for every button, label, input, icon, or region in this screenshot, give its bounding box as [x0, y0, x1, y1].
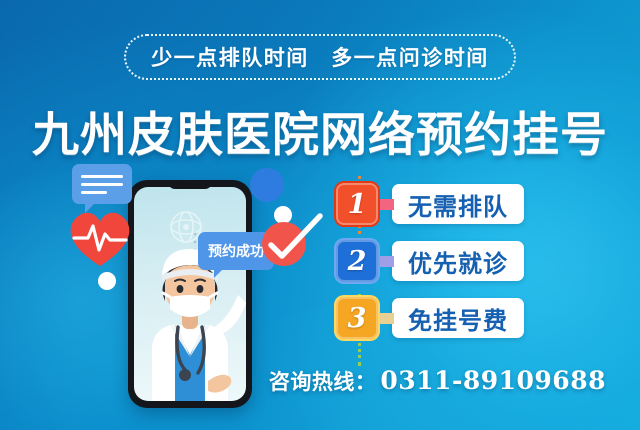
chat-line — [81, 183, 123, 186]
tagline-pill: 少一点排队时间 多一点问诊时间 — [124, 34, 516, 80]
benefit-number: 2 — [348, 248, 367, 275]
benefit-connector — [376, 256, 394, 267]
benefit-badge-3: 3 — [336, 297, 378, 339]
benefit-row-1: 1 无需排队 — [336, 182, 524, 226]
benefit-badge-2: 2 — [336, 240, 378, 282]
decorative-circle — [98, 272, 116, 290]
phone-screen — [134, 187, 246, 401]
benefit-connector — [376, 313, 394, 324]
benefit-connector — [376, 199, 394, 210]
benefit-row-3: 3 免挂号费 — [336, 296, 524, 340]
heart-pulse-icon — [64, 204, 136, 270]
benefit-number: 1 — [348, 191, 367, 218]
hotline: 咨询热线： 0311-89109688 — [269, 366, 606, 396]
tagline-text: 少一点排队时间 多一点问诊时间 — [151, 42, 489, 72]
benefit-pill-1: 无需排队 — [392, 184, 524, 224]
chat-line — [81, 175, 123, 178]
chat-line — [81, 191, 107, 194]
promo-banner: 少一点排队时间 多一点问诊时间 九州皮肤医院网络预约挂号 — [0, 0, 640, 430]
benefits-list: 1 无需排队 2 优先就诊 3 免挂号费 — [336, 182, 564, 354]
check-circle-icon — [254, 212, 324, 274]
benefit-label: 无需排队 — [408, 187, 508, 222]
benefit-number: 3 — [348, 305, 367, 332]
phone-notch — [168, 180, 212, 189]
benefit-pill-2: 优先就诊 — [392, 241, 524, 281]
smartphone-graphic — [128, 180, 252, 408]
hotline-label: 咨询热线： — [269, 366, 377, 396]
page-title: 九州皮肤医院网络预约挂号 — [0, 96, 640, 165]
benefit-row-2: 2 优先就诊 — [336, 239, 524, 283]
benefit-label: 优先就诊 — [408, 244, 508, 279]
benefit-pill-3: 免挂号费 — [392, 298, 524, 338]
benefit-badge-1: 1 — [336, 183, 378, 225]
decorative-circle — [250, 168, 284, 202]
benefit-label: 免挂号费 — [408, 301, 508, 336]
hotline-number: 0311-89109688 — [380, 366, 606, 395]
chat-bubble-icon — [72, 164, 132, 204]
